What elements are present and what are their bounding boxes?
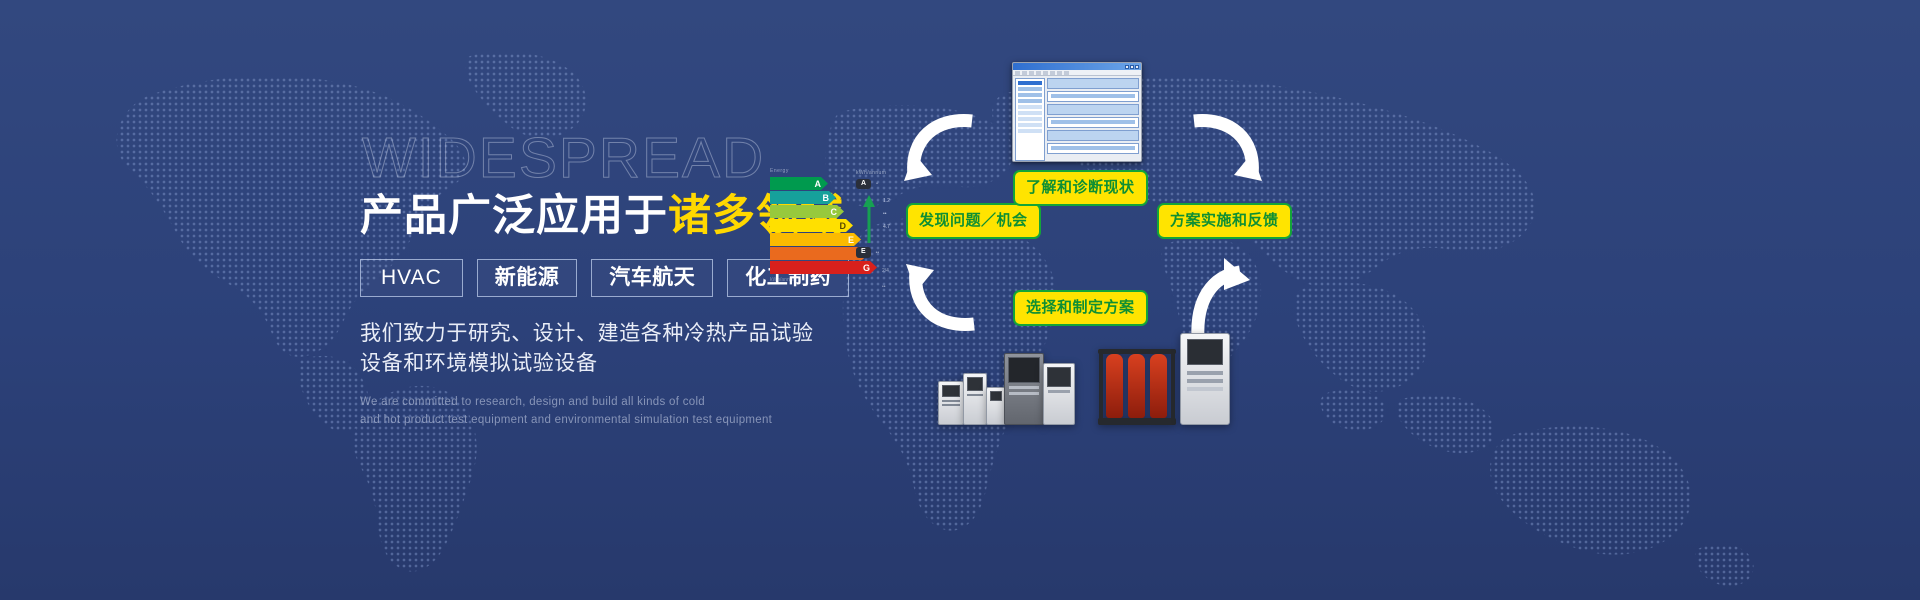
energy-bar-e-grade: E — [848, 235, 854, 245]
screenshot-body — [1013, 76, 1141, 162]
cycle-arrow-top-right-icon — [1176, 105, 1266, 185]
svg-text:1.2: 1.2 — [883, 198, 890, 204]
product-tall-cabinet — [1180, 333, 1230, 425]
lead-en-line-1: We are committed to research, design and… — [360, 394, 920, 412]
energy-bar-d-grade: D — [840, 221, 847, 231]
energy-scale-tick-row-6: •• — [882, 284, 902, 290]
lead-line-1: 我们致力于研究、设计、建造各种冷热产品试验 — [360, 319, 920, 349]
product-small-unit-1 — [938, 381, 964, 425]
lead-en-line-2: and hot product test equipment and envir… — [360, 412, 920, 430]
energy-scale-title: kWh/annum — [856, 170, 902, 176]
screenshot-right-pane — [1047, 78, 1139, 161]
energy-scale-current-row: E •• — [856, 247, 902, 257]
energy-scale-up-arrow-icon: 1.2 •• 4.7 — [860, 191, 904, 247]
energy-bar-a: A — [770, 177, 828, 190]
energy-scale-tick-4: •• — [876, 250, 880, 256]
product-small-unit-2 — [963, 373, 987, 425]
maximize-icon — [1130, 65, 1134, 69]
energy-bar-c-grade: C — [831, 207, 838, 217]
cycle-label-implement-feedback[interactable]: 方案实施和反馈 — [1157, 203, 1292, 239]
lead-paragraph: 我们致力于研究、设计、建造各种冷热产品试验 设备和环境模拟试验设备 — [360, 319, 920, 379]
energy-bar-e: E — [770, 233, 861, 246]
energy-bar-a-grade: A — [815, 179, 822, 189]
energy-scale-grade-a: A — [856, 179, 871, 189]
svg-text:••: •• — [883, 211, 887, 217]
cycle-label-diagnose[interactable]: 了解和诊断现状 — [1013, 170, 1148, 206]
hero-banner: WIDESPREAD 产品广泛应用于诸多领域 HVAC 新能源 汽车航天 化工制… — [0, 0, 1920, 600]
category-tag-new-energy[interactable]: 新能源 — [477, 259, 578, 297]
cycle-label-select-plan[interactable]: 选择和制定方案 — [1013, 290, 1148, 326]
cycle-label-find-problem[interactable]: 发现问题／机会 — [906, 203, 1041, 239]
category-tag-automotive-aerospace[interactable]: 汽车航天 — [591, 259, 713, 297]
energy-scale-top-row: A • — [856, 179, 902, 189]
energy-bar-b: B — [770, 191, 836, 204]
svg-text:4.7: 4.7 — [883, 224, 890, 230]
energy-scale-tick-5: 2/4 — [882, 268, 889, 274]
category-tag-hvac[interactable]: HVAC — [360, 259, 463, 297]
cycle-arrow-bottom-right-icon — [1178, 250, 1258, 342]
screenshot-titlebar — [1013, 63, 1141, 70]
lead-paragraph-english: We are committed to research, design and… — [360, 394, 920, 430]
energy-bar-d: D — [770, 219, 853, 232]
product-photo-group — [930, 330, 1240, 425]
product-small-unit-3 — [986, 387, 1006, 425]
cycle-arrow-top-left-icon — [900, 105, 990, 185]
energy-bar-f: F — [770, 247, 869, 260]
product-chamber-large-1 — [1004, 353, 1044, 425]
lead-line-2: 设备和环境模拟试验设备 — [360, 349, 920, 379]
energy-scale-grade-e: E — [856, 247, 871, 257]
screenshot-left-pane — [1015, 78, 1045, 161]
close-icon — [1135, 65, 1139, 69]
energy-scale-widget: kWh/annum A • 1.2 •• 4.7 E •• 2/4 •• — [856, 170, 902, 292]
product-chamber-large-2 — [1043, 363, 1075, 425]
product-red-tank-rack — [1098, 347, 1176, 425]
energy-scale-tick-0: • — [876, 181, 878, 187]
energy-scale-tick-6: •• — [882, 284, 886, 290]
headline-white: 产品广泛应用于 — [360, 192, 668, 240]
energy-bar-c: C — [770, 205, 844, 218]
energy-scale-tick-row-5: 2/4 — [882, 268, 902, 274]
minimize-icon — [1125, 65, 1129, 69]
software-screenshot-thumbnail — [1012, 62, 1142, 162]
energy-bar-b-grade: B — [823, 193, 830, 203]
